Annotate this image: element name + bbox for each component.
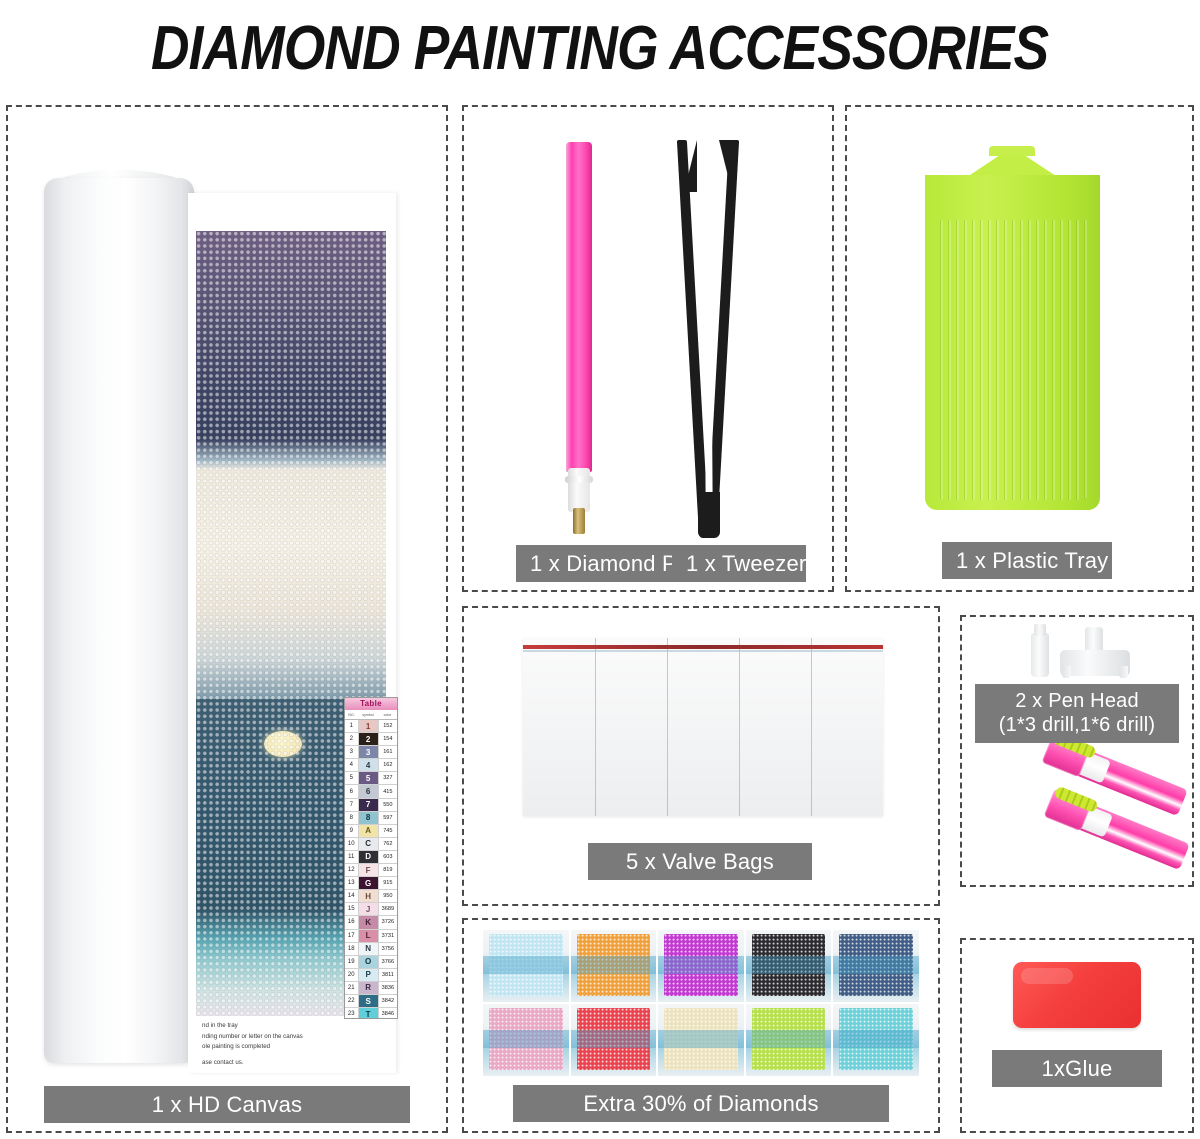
table-cell-symbol: 5 <box>359 772 379 784</box>
diamond-bag-strip <box>658 1030 744 1048</box>
caption-plastic-tray: 1 x Plastic Tray <box>942 542 1112 579</box>
table-cell-symbol: S <box>359 995 379 1007</box>
table-cell-no: 9 <box>345 825 359 837</box>
table-title: Table <box>345 698 397 710</box>
table-row: 12F819 <box>345 864 397 877</box>
table-cell-code: 3836 <box>379 982 397 994</box>
infographic-page: DIAMOND PAINTING ACCESSORIES nd in the t… <box>0 0 1200 1139</box>
diamond-bag <box>571 930 657 1002</box>
table-cell-symbol: R <box>359 982 379 994</box>
table-cell-no: 2 <box>345 733 359 745</box>
table-cell-no: 12 <box>345 864 359 876</box>
color-symbol-table: Table NO. symbol color 11152221543316144… <box>344 697 398 1019</box>
diamond-bag <box>658 930 744 1002</box>
table-cell-code: 3846 <box>379 1008 397 1019</box>
table-cell-code: 162 <box>379 759 397 771</box>
table-cell-symbol: H <box>359 890 379 902</box>
canvas-instructions: nd in the tray nding number or letter on… <box>202 1021 388 1068</box>
table-cell-symbol: A <box>359 825 379 837</box>
table-cell-no: 16 <box>345 916 359 928</box>
table-row: 44162 <box>345 759 397 772</box>
table-cell-symbol: 7 <box>359 799 379 811</box>
table-cell-symbol: 6 <box>359 785 379 797</box>
table-header-no: NO. <box>345 713 358 717</box>
table-cell-no: 10 <box>345 838 359 850</box>
valve-bags <box>523 638 883 816</box>
diamond-bag <box>571 1004 657 1076</box>
table-cell-code: 3756 <box>379 943 397 955</box>
table-cell-no: 11 <box>345 851 359 863</box>
table-cell-code: 3766 <box>379 956 397 968</box>
table-row: 21R3836 <box>345 982 397 995</box>
caption-hd-canvas: 1 x HD Canvas <box>44 1086 410 1123</box>
diamond-bag-strip <box>483 1030 569 1048</box>
table-cell-symbol: 4 <box>359 759 379 771</box>
caption-valve-bags: 5 x Valve Bags <box>588 843 812 880</box>
table-cell-no: 4 <box>345 759 359 771</box>
table-cell-code: 415 <box>379 785 397 797</box>
table-row: 88597 <box>345 812 397 825</box>
table-cell-symbol: 2 <box>359 733 379 745</box>
table-row: 66415 <box>345 785 397 798</box>
glue-block <box>1013 962 1141 1028</box>
table-row: 17L3731 <box>345 930 397 943</box>
table-row: 33161 <box>345 746 397 759</box>
table-cell-no: 20 <box>345 969 359 981</box>
diamond-bag-strip <box>746 956 832 974</box>
caption-glue: 1xGlue <box>992 1050 1162 1087</box>
diamond-bag <box>483 1004 569 1076</box>
tray-peak-flat <box>989 146 1035 156</box>
table-cell-code: 950 <box>379 890 397 902</box>
diamond-pen-body <box>566 142 592 472</box>
caption-extra-diamonds: Extra 30% of Diamonds <box>513 1085 889 1122</box>
table-cell-no: 7 <box>345 799 359 811</box>
page-title-text: DIAMOND PAINTING ACCESSORIES <box>151 13 1048 84</box>
diamond-bag-row-bottom <box>482 1004 920 1076</box>
table-cell-no: 23 <box>345 1008 359 1019</box>
table-row: 22154 <box>345 733 397 746</box>
table-cell-no: 21 <box>345 982 359 994</box>
page-title: DIAMOND PAINTING ACCESSORIES <box>0 0 1200 96</box>
diamond-bag-strip <box>746 1030 832 1048</box>
table-cell-code: 3842 <box>379 995 397 1007</box>
table-cell-code: 327 <box>379 772 397 784</box>
caption-tweezer: 1 x Tweezer <box>672 545 806 582</box>
diamond-bag <box>746 930 832 1002</box>
table-cell-no: 8 <box>345 812 359 824</box>
table-cell-symbol: P <box>359 969 379 981</box>
instruction-line: ase contact us. <box>202 1058 388 1068</box>
table-cell-code: 915 <box>379 877 397 889</box>
diamond-bag <box>833 1004 919 1076</box>
caption-pen-head-line2: (1*3 drill,1*6 drill) <box>989 714 1165 738</box>
table-cell-no: 3 <box>345 746 359 758</box>
table-cell-symbol: J <box>359 903 379 915</box>
diamond-bag <box>658 1004 744 1076</box>
table-cell-code: 154 <box>379 733 397 745</box>
table-cell-code: 161 <box>379 746 397 758</box>
diamond-bag <box>833 930 919 1002</box>
instruction-line: nding number or letter on the canvas <box>202 1032 388 1042</box>
table-cell-code: 3689 <box>379 903 397 915</box>
table-cell-symbol: L <box>359 930 379 942</box>
table-cell-code: 745 <box>379 825 397 837</box>
table-cell-no: 13 <box>345 877 359 889</box>
table-cell-no: 5 <box>345 772 359 784</box>
tweezer <box>672 140 744 538</box>
table-cell-no: 6 <box>345 785 359 797</box>
table-cell-code: 3731 <box>379 930 397 942</box>
panel-pen-tweezer <box>462 105 834 592</box>
diamond-bag <box>746 1004 832 1076</box>
table-cell-symbol: K <box>359 916 379 928</box>
table-cell-code: 819 <box>379 864 397 876</box>
valve-bags-zip-line <box>523 650 883 652</box>
table-cell-symbol: O <box>359 956 379 968</box>
table-body: 1115222154331614416255327664157755088597… <box>345 720 397 1019</box>
table-cell-no: 14 <box>345 890 359 902</box>
instruction-line: nd in the tray <box>202 1021 388 1031</box>
valve-bags-zip-strip <box>523 645 883 649</box>
table-row: 23T3846 <box>345 1008 397 1019</box>
caption-pen-head-line1: 2 x Pen Head <box>989 690 1165 714</box>
diamond-bag-strip <box>571 956 657 974</box>
diamond-bag-row-top <box>482 930 920 1002</box>
diamond-bag-strip <box>833 1030 919 1048</box>
table-cell-no: 18 <box>345 943 359 955</box>
table-cell-code: 597 <box>379 812 397 824</box>
tray-grooves <box>935 220 1090 500</box>
table-row: 55327 <box>345 772 397 785</box>
table-row: 20P3811 <box>345 969 397 982</box>
pen-head-wide-icon <box>1060 650 1130 676</box>
diamond-pen-collar <box>568 468 590 512</box>
table-row: 22S3842 <box>345 995 397 1008</box>
canvas-roll <box>44 178 194 1063</box>
table-cell-symbol: 1 <box>359 720 379 732</box>
pen-head-small-icon <box>1031 633 1049 677</box>
table-header-row: NO. symbol color <box>345 710 397 720</box>
table-row: 11152 <box>345 720 397 733</box>
table-row: 13G915 <box>345 877 397 890</box>
table-cell-code: 3811 <box>379 969 397 981</box>
diamond-pen-tip <box>573 508 585 534</box>
table-cell-code: 152 <box>379 720 397 732</box>
table-row: 11D603 <box>345 851 397 864</box>
table-header-code: color <box>378 713 397 717</box>
diamond-bag-strip <box>483 956 569 974</box>
table-row: 18N3756 <box>345 943 397 956</box>
table-row: 10C762 <box>345 838 397 851</box>
table-cell-no: 15 <box>345 903 359 915</box>
instruction-line: ole painting is completed <box>202 1042 388 1052</box>
table-row: 19O3766 <box>345 956 397 969</box>
diamond-bag <box>483 930 569 1002</box>
table-cell-symbol: N <box>359 943 379 955</box>
table-cell-symbol: 8 <box>359 812 379 824</box>
table-cell-code: 762 <box>379 838 397 850</box>
diamond-bag-strip <box>658 956 744 974</box>
table-row: 9A745 <box>345 825 397 838</box>
table-row: 16K3726 <box>345 916 397 929</box>
table-cell-symbol: C <box>359 838 379 850</box>
caption-diamond-pen: 1 x Diamond Pen <box>516 545 682 582</box>
table-row: 77550 <box>345 799 397 812</box>
diamond-bags-image <box>482 930 920 1078</box>
table-row: 15J3689 <box>345 903 397 916</box>
table-cell-symbol: D <box>359 851 379 863</box>
table-row: 14H950 <box>345 890 397 903</box>
table-cell-symbol: 3 <box>359 746 379 758</box>
diamond-bag-strip <box>571 1030 657 1048</box>
table-cell-code: 3726 <box>379 916 397 928</box>
table-header-symbol: symbol <box>358 713 378 717</box>
table-cell-symbol: F <box>359 864 379 876</box>
diamond-bag-strip <box>833 956 919 974</box>
table-cell-no: 19 <box>345 956 359 968</box>
caption-pen-head: 2 x Pen Head (1*3 drill,1*6 drill) <box>975 684 1179 743</box>
table-cell-code: 550 <box>379 799 397 811</box>
table-cell-no: 1 <box>345 720 359 732</box>
table-cell-code: 603 <box>379 851 397 863</box>
table-cell-symbol: T <box>359 1008 379 1019</box>
table-cell-symbol: G <box>359 877 379 889</box>
table-cell-no: 17 <box>345 930 359 942</box>
table-cell-no: 22 <box>345 995 359 1007</box>
